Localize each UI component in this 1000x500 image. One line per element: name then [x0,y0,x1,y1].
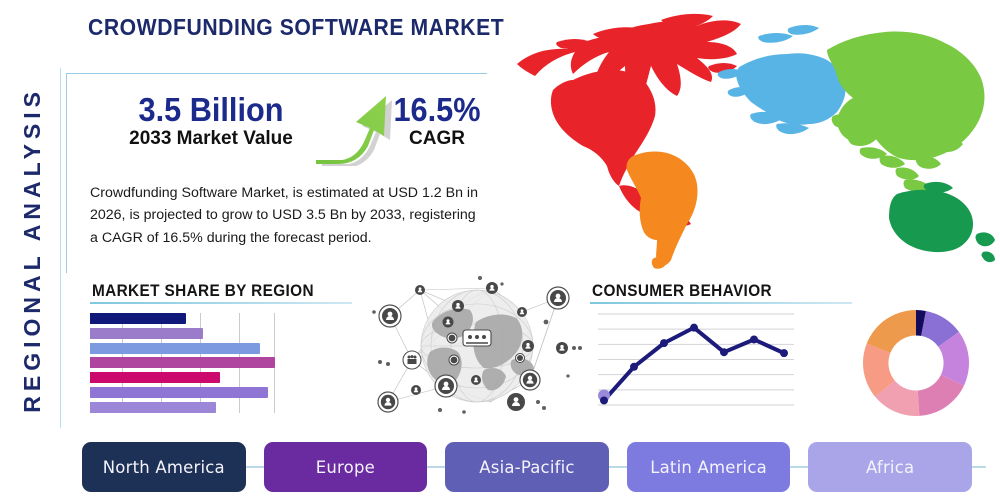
region-pill-asia-pacific[interactable]: Asia-Pacific [445,442,609,492]
region-pill-north-america[interactable]: North America [82,442,246,492]
bar-fill [90,387,268,398]
line-marker [690,324,698,332]
side-divider [60,68,61,428]
region-pill-africa[interactable]: Africa [808,442,972,492]
bar-row [90,402,275,413]
consumer-behavior-heading: CONSUMER BEHAVIOR [592,282,772,301]
bar-fill [90,343,260,354]
bar-row [90,357,275,368]
bar-fill [90,372,220,383]
region-pill-europe[interactable]: Europe [264,442,428,492]
infographic-root: REGIONAL ANALYSIS CROWDFUNDING SOFTWARE … [0,0,1000,500]
line-marker [660,339,668,347]
region-pill-label: Europe [316,458,375,477]
kpi-cagr-number: 16.5% [377,92,498,128]
bar-row [90,372,275,383]
kpi-market-value-label: 2033 Market Value [96,128,326,150]
bar-row [90,328,275,339]
line-marker [630,363,638,371]
line-marker [750,335,758,343]
region-pill-strip: North AmericaEuropeAsia-PacificLatin Ame… [82,442,972,492]
consumer-behavior-line-chart [598,308,794,413]
bar-row [90,387,275,398]
pill-connector [609,466,627,468]
bar-row [90,343,275,354]
line-marker [780,349,788,357]
bar-fill [90,328,203,339]
bar-fill [90,357,275,368]
pill-connector [790,466,808,468]
page-title: CROWDFUNDING SOFTWARE MARKET [88,14,504,41]
bar-fill [90,402,216,413]
bar-chart-rows [90,313,275,413]
bar-fill [90,313,186,324]
kpi-market-value: 3.5 Billion 2033 Market Value [96,92,326,149]
region-pill-label: North America [103,458,225,477]
global-network-graphic [372,276,584,418]
vertical-section-label: REGIONAL ANALYSIS [10,50,54,450]
bar-row [90,313,275,324]
market-share-rule [90,302,352,304]
kpi-cagr-label: CAGR [372,128,502,150]
kpi-cagr: 16.5% CAGR [372,92,502,149]
regional-distribution-donut-chart [861,308,971,418]
vertical-section-label-text: REGIONAL ANALYSIS [19,87,46,413]
market-description: Crowdfunding Software Market, is estimat… [90,182,485,249]
region-pill-latin-america[interactable]: Latin America [627,442,791,492]
consumer-behavior-rule [590,302,852,304]
kpi-market-value-number: 3.5 Billion [104,92,318,128]
line-marker [600,396,608,404]
pill-tail-connector [972,466,986,468]
pill-connector [246,466,264,468]
market-share-heading: MARKET SHARE BY REGION [92,282,314,301]
world-map-graphic [497,8,997,270]
line-marker [720,348,728,356]
region-pill-label: Africa [866,458,914,477]
market-share-bar-chart [90,313,275,413]
kpi-row: 3.5 Billion 2033 Market Value 16.5% CAGR [72,88,502,168]
region-pill-label: Latin America [650,458,767,477]
pill-connector [427,466,445,468]
region-pill-label: Asia-Pacific [479,458,574,477]
